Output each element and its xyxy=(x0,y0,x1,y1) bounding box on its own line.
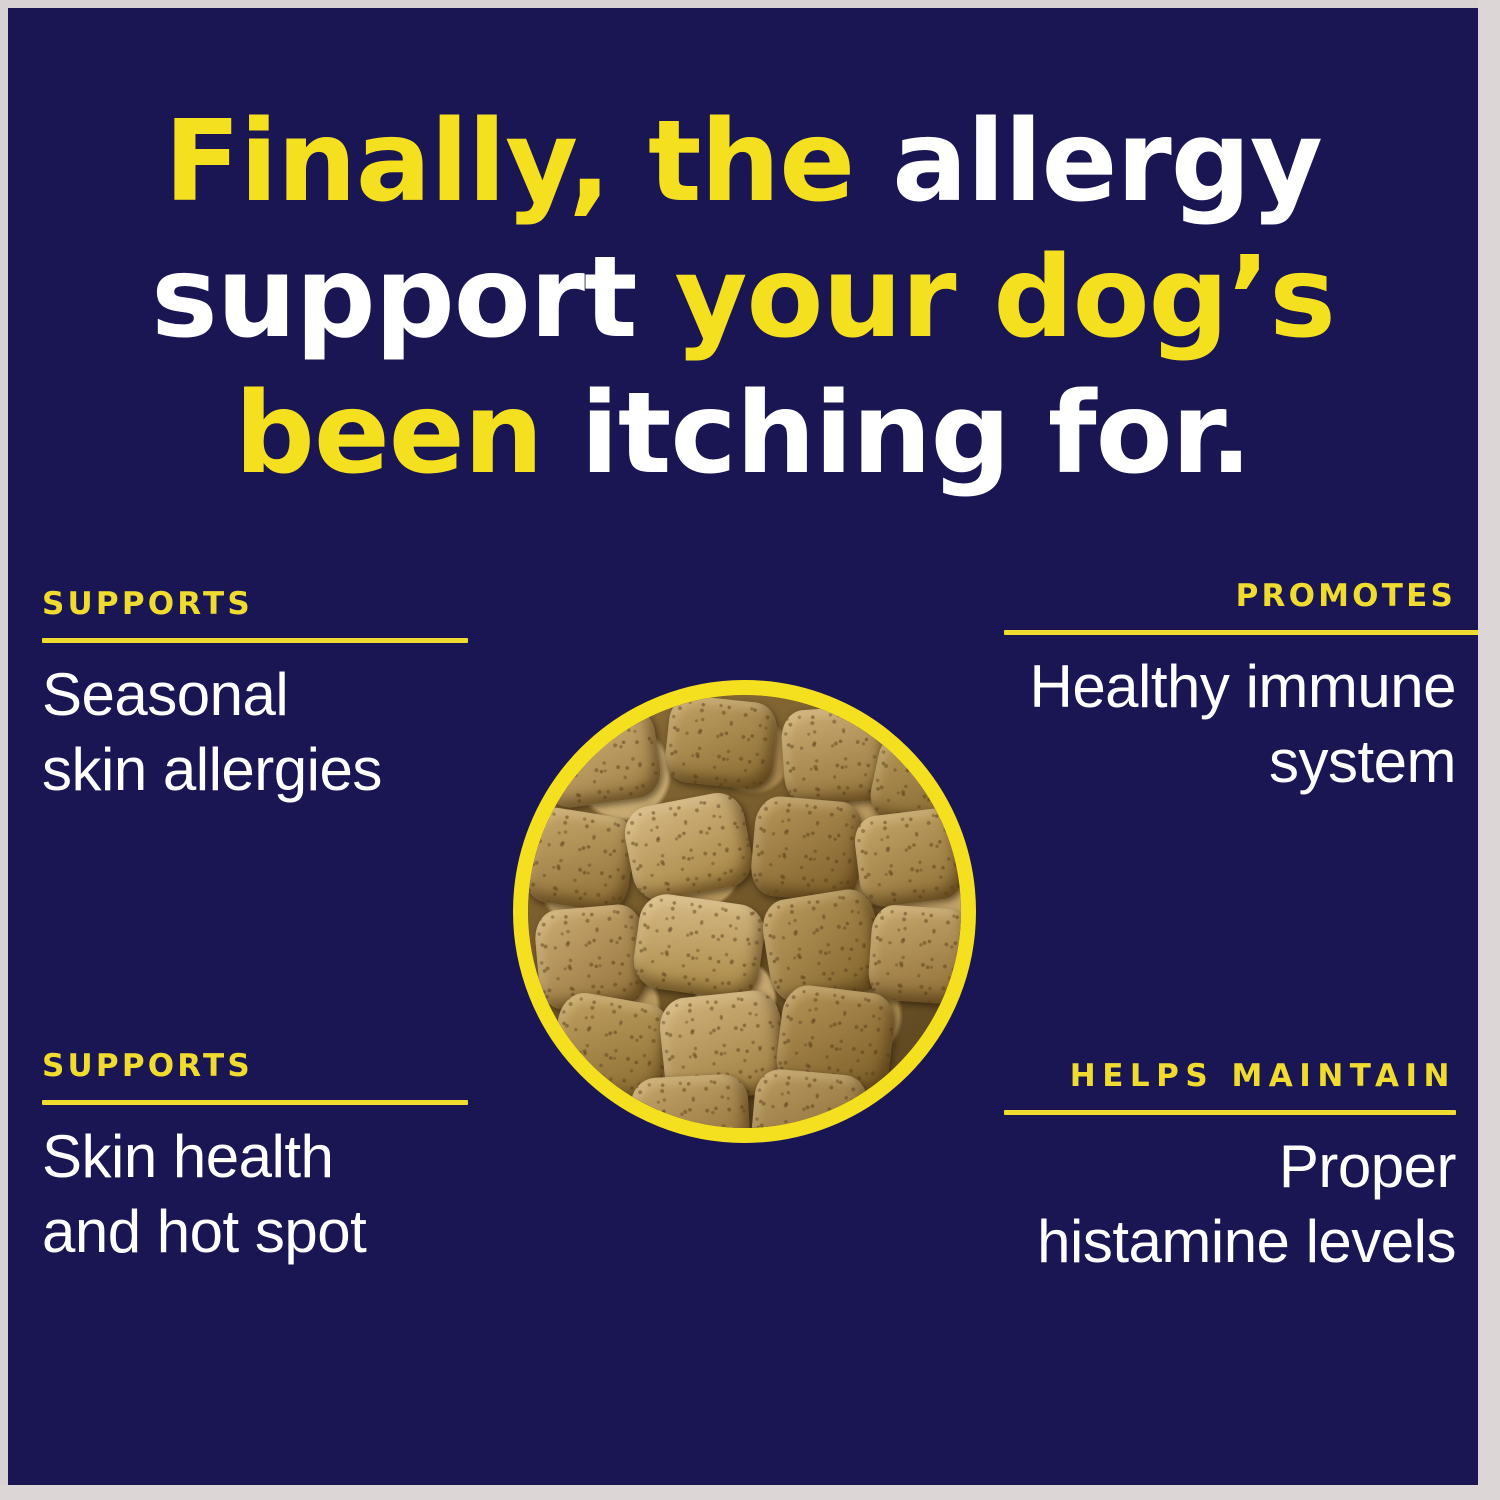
headline-word-group-2b: your dog’s xyxy=(675,233,1335,363)
headline-word-group-2a: support xyxy=(151,233,674,363)
benefit-text-seasonal-skin-allergies: Seasonal skin allergies xyxy=(42,657,482,807)
canvas-border-top xyxy=(0,0,1500,8)
canvas-border-bottom xyxy=(0,1485,1500,1500)
headline-line-3: been itching for. xyxy=(8,366,1478,502)
benefit-underline-bottom-left xyxy=(42,1100,468,1105)
dog-treat-chews-photo xyxy=(528,695,961,1128)
product-benefits-graphic: Finally, the allergy support your dog’s … xyxy=(8,8,1478,1485)
benefit-text-skin-health-hot-spot: Skin health and hot spot xyxy=(42,1119,482,1269)
headline-word-group-1b: allergy xyxy=(892,97,1322,227)
canvas-border-left xyxy=(0,0,8,1500)
benefit-underline-top-left xyxy=(42,638,468,643)
headline-line-1: Finally, the allergy xyxy=(8,94,1478,230)
benefit-block-seasonal-skin-allergies: SUPPORTS Seasonal skin allergies xyxy=(42,586,482,807)
benefit-underline-top-right xyxy=(1004,630,1478,635)
headline-word-group-3a: been xyxy=(235,369,581,499)
benefit-block-healthy-immune-system: PROMOTES Healthy immune system xyxy=(1004,578,1456,799)
benefit-label-helps-maintain: HELPS MAINTAIN xyxy=(1004,1058,1456,1094)
headline-word-group-3b: itching for. xyxy=(581,369,1252,499)
benefit-block-skin-health-hot-spot: SUPPORTS Skin health and hot spot xyxy=(42,1048,482,1269)
benefit-text-healthy-immune-system: Healthy immune system xyxy=(1004,649,1456,799)
headline-line-2: support your dog’s xyxy=(8,230,1478,366)
benefit-block-proper-histamine-levels: HELPS MAINTAIN Proper histamine levels xyxy=(1004,1058,1456,1279)
benefit-label-supports-top-left: SUPPORTS xyxy=(42,586,482,622)
page-headline: Finally, the allergy support your dog’s … xyxy=(8,94,1478,502)
benefit-label-supports-bottom-left: SUPPORTS xyxy=(42,1048,482,1084)
benefit-underline-bottom-right xyxy=(1004,1110,1456,1115)
benefit-label-promotes: PROMOTES xyxy=(1004,578,1456,614)
canvas-border-right xyxy=(1478,0,1500,1500)
dog-treat-photo-circle xyxy=(513,680,976,1143)
headline-word-group-1a: Finally, the xyxy=(164,97,892,227)
benefit-text-proper-histamine-levels: Proper histamine levels xyxy=(1004,1129,1456,1279)
